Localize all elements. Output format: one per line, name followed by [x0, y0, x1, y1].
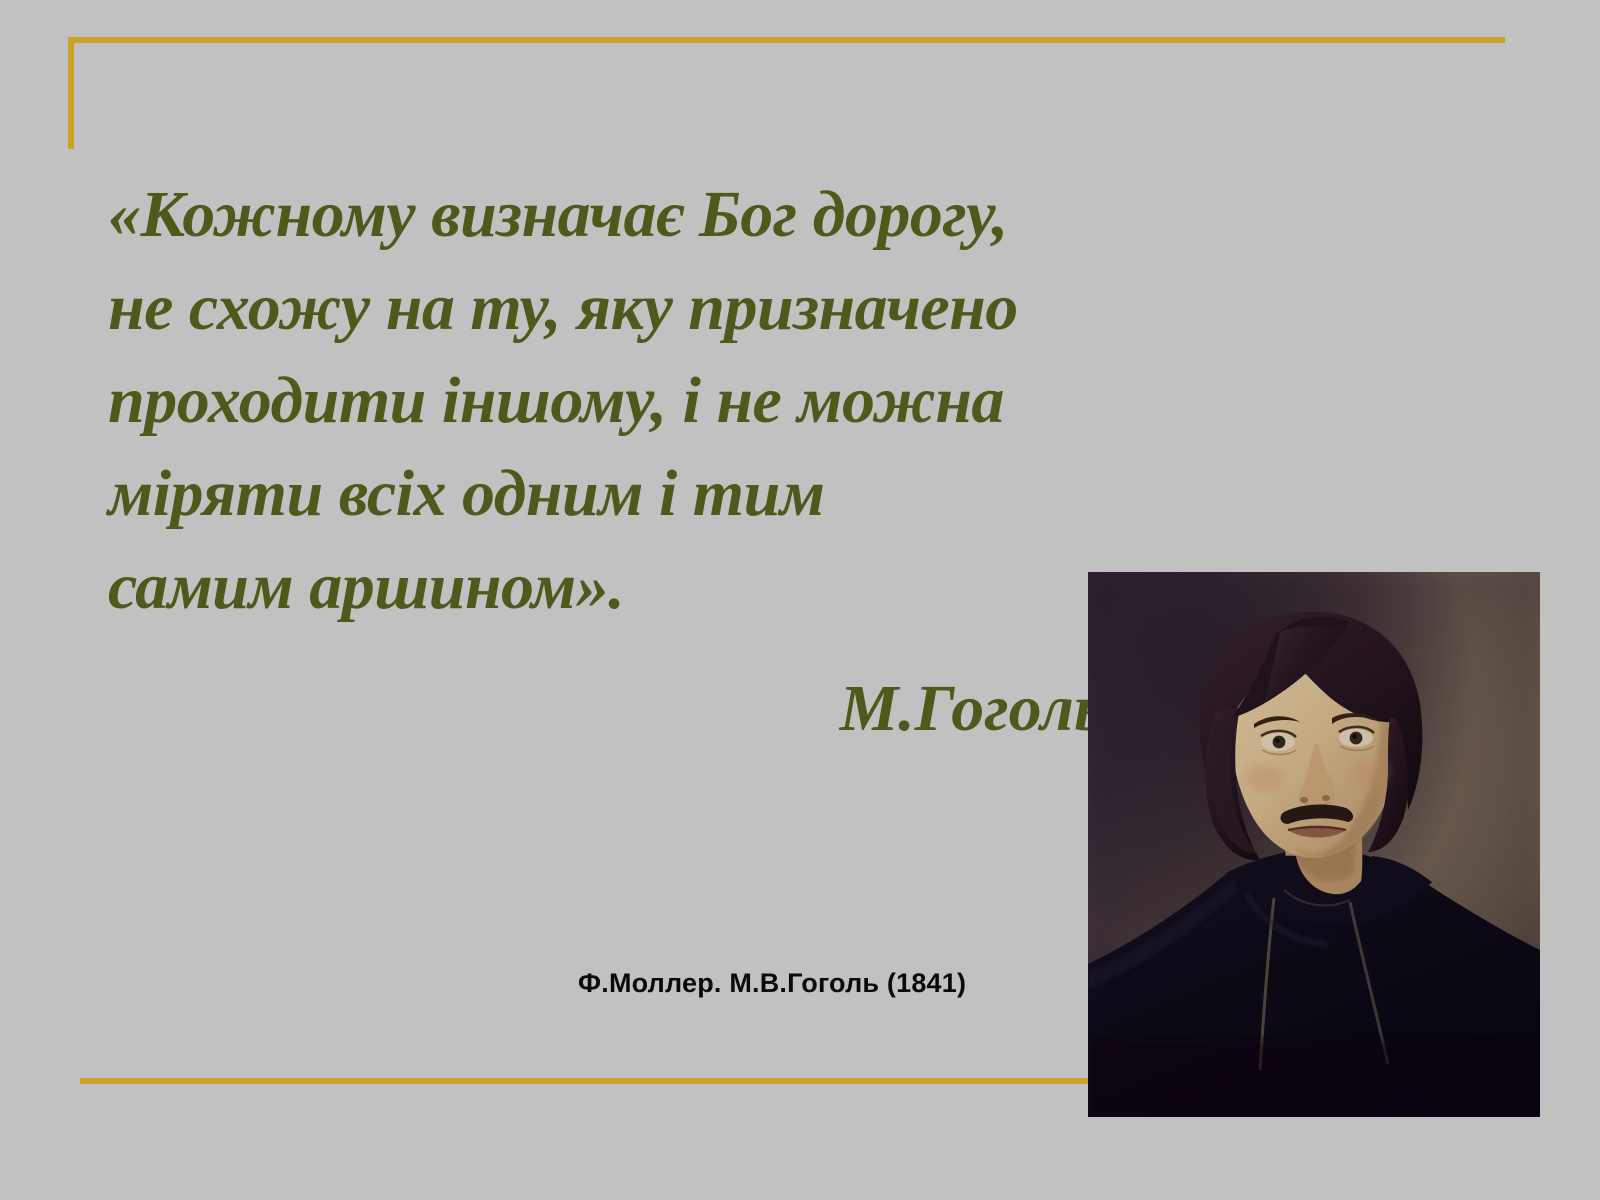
quote-author: М.Гоголь: [108, 659, 1108, 759]
top-gold-rule: [68, 37, 1505, 43]
quote-line-4: міряти всіх одним і тим: [108, 447, 1108, 540]
quote-line-1: «Кожному визначає Бог дорогу,: [108, 168, 1108, 261]
painting-caption: Ф.Моллер. М.В.Гоголь (1841): [578, 968, 966, 999]
portrait-illustration: [1088, 572, 1540, 1117]
left-gold-rule: [68, 37, 74, 149]
bottom-gold-rule: [80, 1078, 1090, 1084]
presentation-slide: «Кожному визначає Бог дорогу, не схожу н…: [0, 0, 1600, 1200]
gogol-portrait-image: [1088, 572, 1540, 1117]
quote-line-5: самим аршином».: [108, 540, 1108, 633]
quote-block: «Кожному визначає Бог дорогу, не схожу н…: [108, 168, 1108, 759]
quote-line-2: не схожу на ту, яку призначено: [108, 261, 1108, 354]
quote-line-3: проходити іншому, і не можна: [108, 354, 1108, 447]
